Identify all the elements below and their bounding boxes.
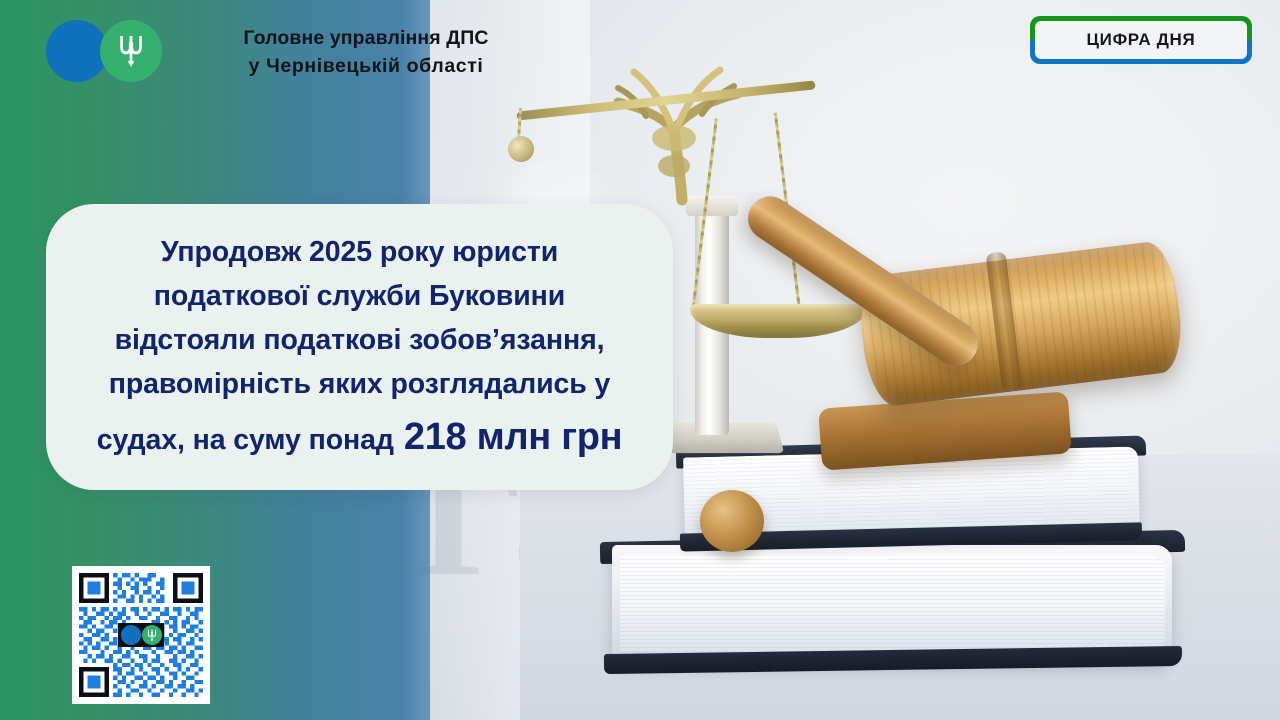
upper-book-base xyxy=(680,522,1142,551)
scale-column xyxy=(695,210,729,435)
gavel-sound-block xyxy=(818,391,1072,470)
qr-code[interactable] xyxy=(72,566,210,704)
status-badge-label: ЦИФРА ДНЯ xyxy=(1035,21,1247,59)
org-logo xyxy=(46,20,172,82)
ukraine-trident-icon xyxy=(147,629,157,642)
org-title-line-2: у Чернівецькій областi xyxy=(196,52,536,80)
scale-beam xyxy=(516,80,815,120)
lower-book-base xyxy=(604,646,1182,674)
statement-card: Упродовж 2025 року юристи податкової слу… xyxy=(46,204,673,490)
lower-book-cover xyxy=(600,530,1185,564)
statement-line-4: правомірність яких розглядались у xyxy=(70,363,649,407)
statement-amount: 218 млн грн xyxy=(404,408,622,467)
page-title: Головне управління ДПС у Чернівецькій об… xyxy=(196,24,536,81)
statement-line-5-prefix: судах, на суму понад xyxy=(97,419,394,463)
qr-center-logo xyxy=(118,623,164,647)
lower-book xyxy=(612,545,1172,663)
gavel-head-band xyxy=(986,251,1023,392)
gavel-head xyxy=(855,239,1187,409)
scale-left-chain xyxy=(517,108,522,142)
status-badge: ЦИФРА ДНЯ xyxy=(1030,16,1252,64)
qr-logo-circle-green xyxy=(142,625,162,645)
logo-circle-green xyxy=(100,20,162,82)
scale-base xyxy=(656,423,785,453)
scale-column-cap xyxy=(686,196,738,216)
statement-line-2: податкової служби Буковини xyxy=(70,275,649,319)
statement-line-5: судах, на суму понад 218 млн грн xyxy=(70,408,649,467)
scale-right-chain-a xyxy=(691,119,718,313)
poster-canvas: Гарант.ru xyxy=(0,0,1280,720)
qr-code-canvas xyxy=(79,573,203,697)
gavel-handle xyxy=(740,188,987,374)
gavel-handle-knob xyxy=(700,490,764,552)
statement-line-3: відстояли податкові зобов’язання, xyxy=(70,319,649,363)
org-title-line-1: Головне управління ДПС xyxy=(196,24,536,52)
desk-surface xyxy=(520,455,1280,720)
statement-text: Упродовж 2025 року юристи податкової слу… xyxy=(70,231,649,467)
ukraine-trident-icon xyxy=(118,34,144,68)
logo-circle-blue xyxy=(46,20,108,82)
qr-logo-circle-blue xyxy=(121,625,141,645)
scale-finial-icon xyxy=(584,58,764,208)
statement-line-1: Упродовж 2025 року юристи xyxy=(70,231,649,275)
scale-right-chain-b xyxy=(774,113,801,312)
upper-book xyxy=(683,446,1140,543)
scale-right-pan xyxy=(690,304,866,338)
upper-book-cover xyxy=(676,435,1146,468)
scale-left-pan xyxy=(508,136,534,162)
lower-book-pages xyxy=(620,556,1165,652)
